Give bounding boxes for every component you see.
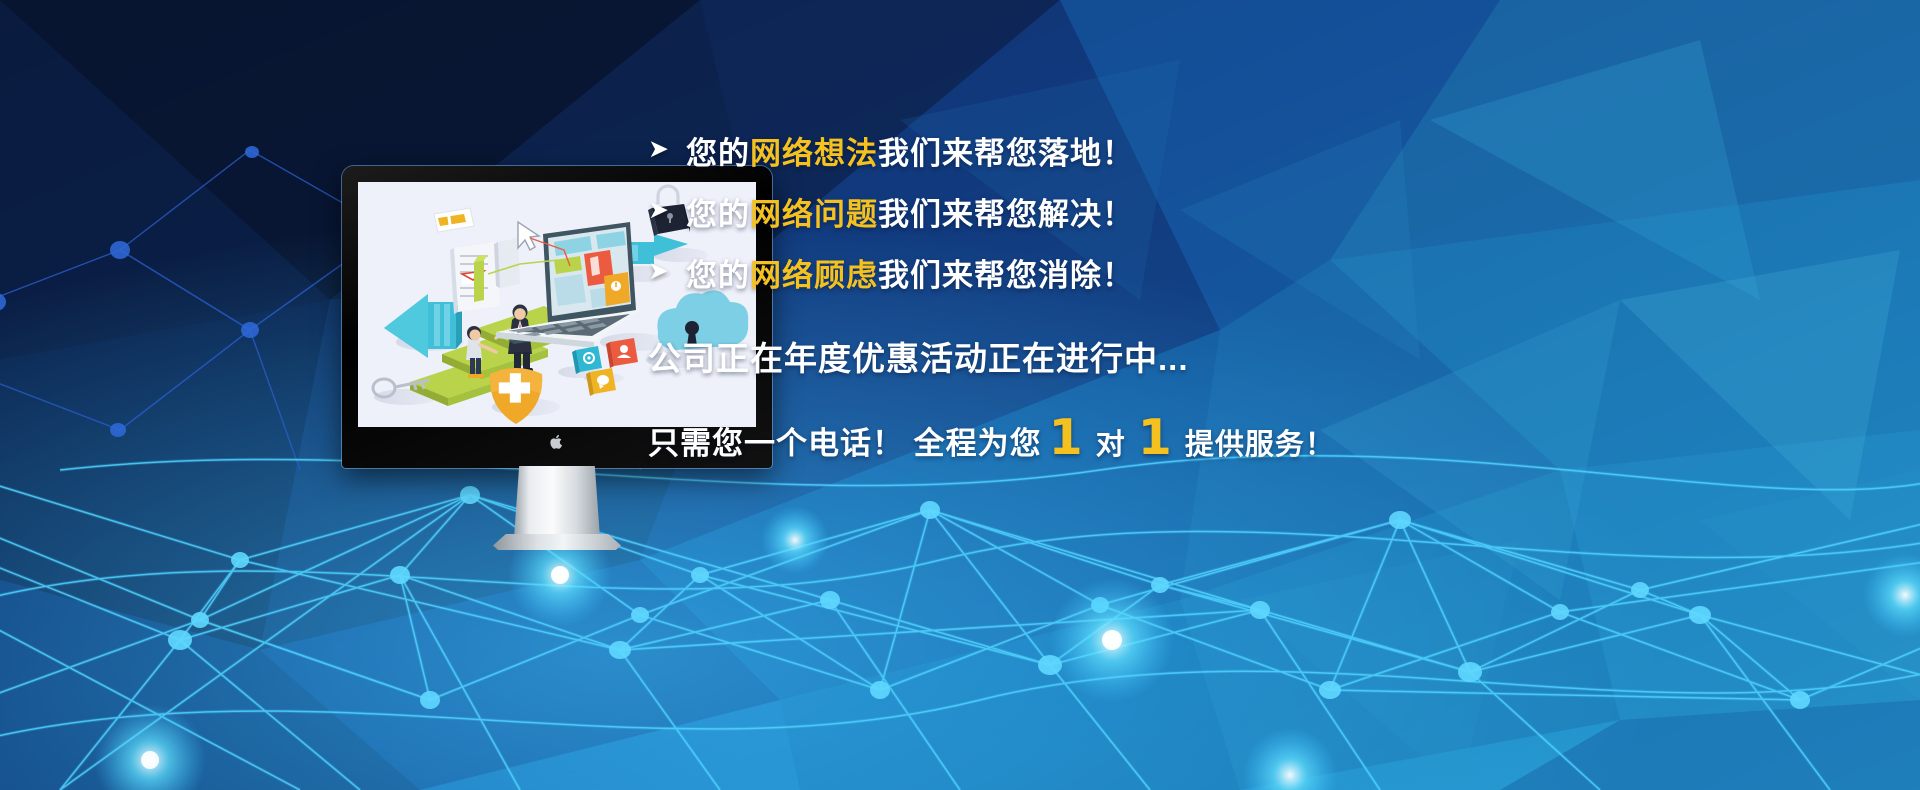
bullet-text-3: 您的网络顾虑我们来帮您消除！ [686,250,1134,295]
cta-line: 只需您一个电话！ 全程为您 1 对 1 提供服务！ [648,416,1408,463]
arrow-bullet-icon: ➤ [648,259,686,284]
bullet-lead-1: 您的 [686,136,750,171]
cta-number-first: 1 [1049,416,1084,460]
bullet-lead-3: 您的 [686,258,750,293]
bullet-lead-2: 您的 [686,197,750,232]
bullet-tail-3: 我们来帮您消除！ [878,258,1134,293]
marketing-copy: ➤ 您的网络想法我们来帮您落地！ ➤ 您的网络问题我们来帮您解决！ ➤ 您的网络… [648,120,1408,463]
cta-suffix: 提供服务！ [1185,421,1335,463]
promo-line: 公司正在年度优惠活动正在进行中... [648,332,1408,380]
bullet-item-3: ➤ 您的网络顾虑我们来帮您消除！ [648,242,1408,302]
arrow-bullet-icon: ➤ [648,198,686,223]
cta-prefix: 只需您一个电话！ 全程为您 [648,418,1042,463]
bullet-highlight-1: 网络想法 [750,136,878,171]
promo-banner: ➤ 您的网络想法我们来帮您落地！ ➤ 您的网络问题我们来帮您解决！ ➤ 您的网络… [0,0,1920,790]
apple-logo-icon [550,434,564,450]
arrow-bullet-icon: ➤ [648,137,686,162]
monitor-stand-neck [514,466,600,538]
cta-number-second: 1 [1138,416,1173,460]
bullet-highlight-3: 网络顾虑 [750,258,878,293]
bullet-tail-2: 我们来帮您解决！ [878,197,1134,232]
bullet-text-1: 您的网络想法我们来帮您落地！ [686,128,1134,173]
bullet-text-2: 您的网络问题我们来帮您解决！ [686,189,1134,234]
bullet-tail-1: 我们来帮您落地！ [878,136,1134,171]
bullet-item-1: ➤ 您的网络想法我们来帮您落地！ [648,120,1408,180]
bullet-highlight-2: 网络问题 [750,197,878,232]
cta-middle: 对 [1096,421,1126,463]
bullet-item-2: ➤ 您的网络问题我们来帮您解决！ [648,181,1408,241]
monitor-stand-foot [493,534,621,550]
